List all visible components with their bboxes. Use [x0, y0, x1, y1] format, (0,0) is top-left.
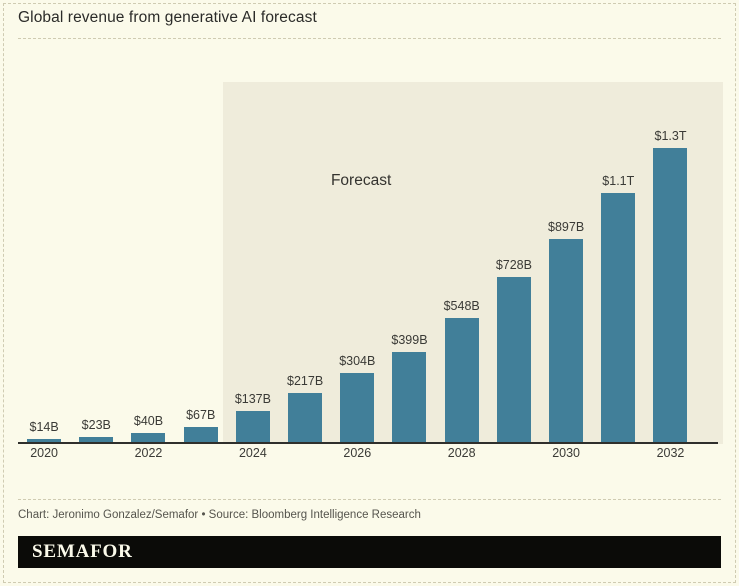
bar-value-label: $67B [186, 408, 215, 422]
bar-slot: $897B [540, 50, 592, 442]
bar-2023[interactable] [184, 427, 218, 442]
bar-value-label: $40B [134, 414, 163, 428]
chart-credit: Chart: Jeronimo Gonzalez/Semafor • Sourc… [18, 509, 421, 521]
x-tick-2024: 2024 [227, 446, 279, 460]
bar-value-label: $137B [235, 392, 271, 406]
bar-value-label: $548B [444, 299, 480, 313]
bar-value-label: $399B [391, 333, 427, 347]
bar-slot: $399B [383, 50, 435, 442]
title-divider [18, 38, 721, 39]
x-tick-2026: 2026 [331, 446, 383, 460]
bar-2025[interactable] [288, 393, 322, 442]
bar-slot: $137B [227, 50, 279, 442]
x-axis-line [18, 442, 718, 444]
bar-slot: $67B [175, 50, 227, 442]
bar-value-label: $1.1T [602, 174, 634, 188]
bar-value-label: $23B [82, 418, 111, 432]
bar-2029[interactable] [497, 277, 531, 442]
bar-2022[interactable] [131, 433, 165, 442]
x-tick-2032: 2032 [644, 446, 696, 460]
bar-slot: $304B [331, 50, 383, 442]
bar-2028[interactable] [445, 318, 479, 442]
bar-slot: $728B [488, 50, 540, 442]
bar-2024[interactable] [236, 411, 270, 442]
bar-2032[interactable] [653, 148, 687, 442]
bar-value-label: $728B [496, 258, 532, 272]
bar-slot: $1.1T [592, 50, 644, 442]
x-axis-tick-labels: 2020202220242026202820302032 [18, 446, 723, 468]
bar-value-label: $1.3T [655, 129, 687, 143]
chart-card: Global revenue from generative AI foreca… [0, 0, 739, 586]
bar-slot: $40B [122, 50, 174, 442]
bar-2030[interactable] [549, 239, 583, 442]
page-title: Global revenue from generative AI foreca… [18, 9, 317, 27]
x-tick-2020: 2020 [18, 446, 70, 460]
x-tick-2028: 2028 [436, 446, 488, 460]
semafor-logo-bar: SEMAFOR [18, 536, 721, 568]
bar-slot: $217B [279, 50, 331, 442]
bar-slot: $548B [436, 50, 488, 442]
bar-value-label: $217B [287, 374, 323, 388]
x-tick-2030: 2030 [540, 446, 592, 460]
bar-slot: $23B [70, 50, 122, 442]
bar-value-label: $897B [548, 220, 584, 234]
chart-plot-area: Forecast $14B$23B$40B$67B$137B$217B$304B… [18, 48, 723, 444]
semafor-wordmark: SEMAFOR [32, 541, 133, 563]
credit-divider [18, 499, 721, 500]
bar-value-label: $304B [339, 354, 375, 368]
bar-slot: $14B [18, 50, 70, 442]
bar-2026[interactable] [340, 373, 374, 442]
bar-series: $14B$23B$40B$67B$137B$217B$304B$399B$548… [18, 48, 723, 444]
bar-2027[interactable] [392, 352, 426, 442]
bar-slot: $1.3T [644, 50, 696, 442]
bar-2031[interactable] [601, 193, 635, 442]
x-tick-2022: 2022 [122, 446, 174, 460]
bar-value-label: $14B [29, 420, 58, 434]
